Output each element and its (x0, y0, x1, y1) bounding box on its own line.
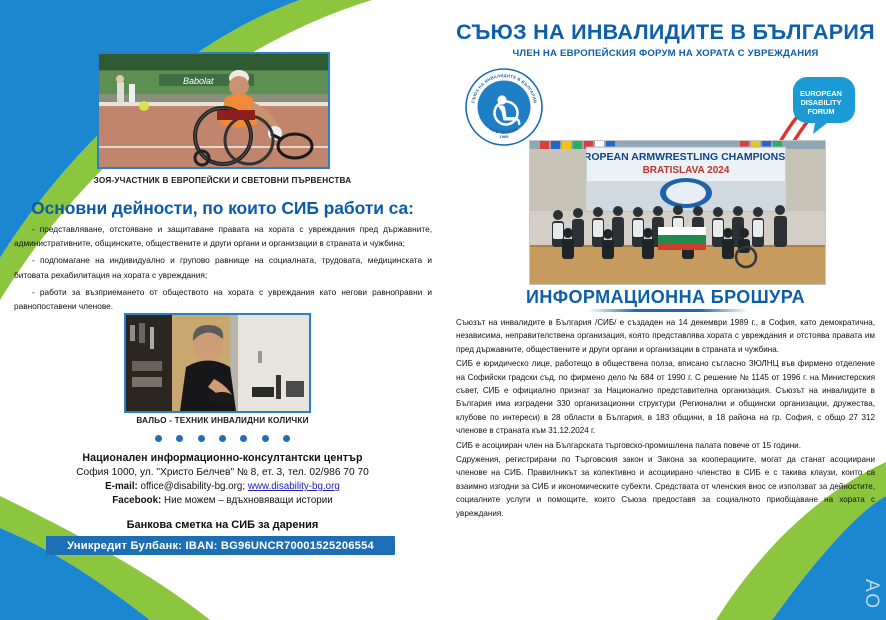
armwrestling-team-photo: EUROPEAN ARMWRESTLING CHAMPIONSHIP BRATI… (529, 140, 826, 285)
bank-account-title: Банкова сметка на СИБ за дарения (0, 519, 445, 531)
svg-text:EUROPEAN ARMWRESTLING CHAMPION: EUROPEAN ARMWRESTLING CHAMPIONSHIP (569, 151, 803, 163)
about-paragraph: СИБ е асоцииран член на Българската търг… (456, 439, 875, 452)
separator-dot (176, 435, 183, 442)
svg-text:DISABILITY: DISABILITY (800, 98, 841, 107)
activity-item: - подпомагане на индивидуално и групово … (14, 253, 432, 281)
about-text: Съюзът на инвалидите в България /СИБ/ е … (456, 316, 875, 521)
european-disability-forum-logo: EUROPEAN DISABILITY FORUM (774, 70, 860, 148)
facebook-value: Ние можем – вдъхновяващи истории (164, 495, 333, 506)
iban-bar: Уникредит Булбанк: IBAN: BG96UNCR7000152… (46, 536, 395, 555)
wheelchair-tennis-photo: Babolat (97, 52, 330, 169)
caption-tennis: ЗОЯ-УЧАСТНИК В ЕВРОПЕЙСКИ И СВЕТОВНИ ПЪР… (0, 176, 445, 185)
right-column: СЪЮЗ НА ИНВАЛИДИТЕ В БЪЛГАРИЯ ЧЛЕН НА ЕВ… (445, 0, 886, 620)
svg-text:Babolat: Babolat (183, 76, 214, 86)
separator-dot (262, 435, 269, 442)
activities-heading: Основни дейности, по които СИБ работи са… (0, 198, 445, 219)
page-subtitle: ЧЛЕН НА ЕВРОПЕЙСКИЯ ФОРУМ НА ХОРАТА С УВ… (445, 48, 886, 59)
separator-dot (283, 435, 290, 442)
left-column: Babolat (0, 0, 445, 620)
contact-address: София 1000, ул. "Христо Белчев" № 8, ет.… (0, 467, 445, 478)
caption-technician: ВАЛЬО - ТЕХНИК ИНВАЛИДНИ КОЛИЧКИ (0, 416, 445, 425)
about-paragraph: Сдружения, регистрирани по Търговския за… (456, 453, 875, 520)
contact-facebook-line: Facebook: Ние можем – вдъхновяващи истор… (0, 495, 445, 506)
sib-round-logo: СЪЮЗ НА ИНВАЛИДИТЕ В БЪЛГАРИЯ НИЕ МОЖЕМ … (465, 68, 543, 146)
separator-dot (198, 435, 205, 442)
about-paragraph: СИБ е юридическо лице, работещо в общест… (456, 357, 875, 437)
contact-block: Национален информационно-консултантски ц… (0, 452, 445, 506)
contact-email-line: E-mail: office@disability-bg.org; www.di… (0, 481, 445, 492)
email-value: office@disability-bg.org; (141, 481, 246, 492)
dot-separator (0, 430, 445, 448)
separator-dot (155, 435, 162, 442)
email-label: E-mail: (105, 481, 138, 492)
about-paragraph: Съюзът на инвалидите в България /СИБ/ е … (456, 316, 875, 356)
brochure-heading: ИНФОРМАЦИОННА БРОШУРА (445, 287, 886, 308)
page-title: СЪЮЗ НА ИНВАЛИДИТЕ В БЪЛГАРИЯ (445, 20, 886, 45)
svg-text:FORUM: FORUM (807, 107, 834, 116)
svg-text:BRATISLAVA 2024: BRATISLAVA 2024 (643, 165, 730, 176)
brochure-heading-rule (588, 309, 748, 312)
activities-list: - представляване, отстояване и защитаван… (14, 222, 432, 316)
wheelchair-technician-photo (124, 313, 311, 413)
activity-item: - работи за възприемането от обществото … (14, 285, 432, 313)
facebook-label: Facebook: (112, 495, 161, 506)
contact-center-name: Национален информационно-консултантски ц… (0, 452, 445, 464)
activity-item: - представляване, отстояване и защитаван… (14, 222, 432, 250)
separator-dot (219, 435, 226, 442)
brochure-page: АО Babolat (0, 0, 886, 620)
separator-dot (240, 435, 247, 442)
svg-text:1989: 1989 (500, 134, 510, 139)
website-link[interactable]: www.disability-bg.org (248, 481, 340, 492)
svg-text:EUROPEAN: EUROPEAN (800, 89, 842, 98)
